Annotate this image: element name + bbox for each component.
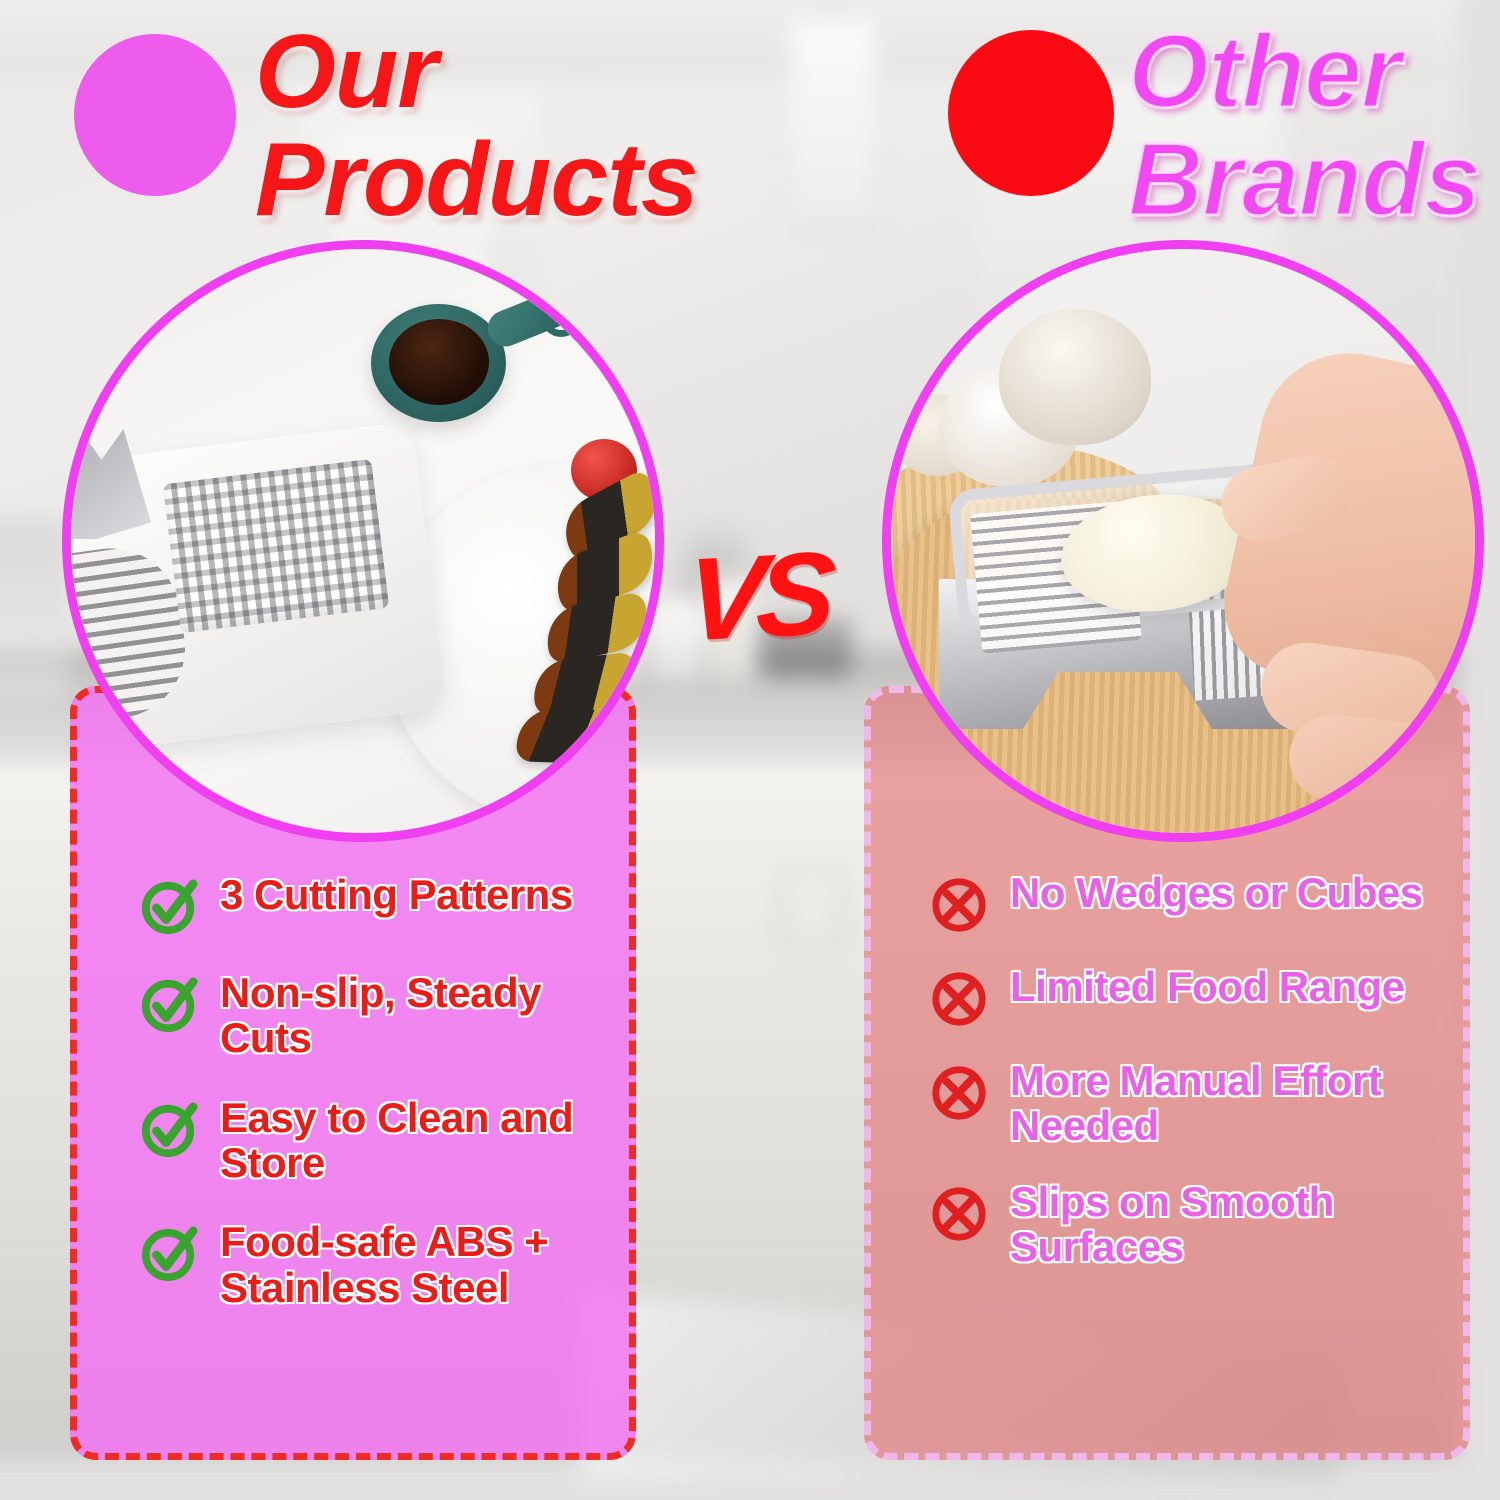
x-circle-icon <box>930 876 988 934</box>
list-item: No Wedges or Cubes <box>930 870 1430 934</box>
check-circle-icon <box>140 878 198 936</box>
left-header-dot <box>74 34 236 196</box>
feature-text: More Manual Effort Needed <box>1010 1058 1430 1149</box>
feature-text: Limited Food Range <box>1010 964 1405 1009</box>
list-item: Limited Food Range <box>930 964 1430 1028</box>
x-circle-icon <box>930 1185 988 1243</box>
feature-text: Food-safe ABS + Stainless Steel <box>220 1219 630 1310</box>
list-item: Non-slip, Steady Cuts <box>140 970 630 1061</box>
vs-label: VS <box>683 525 830 668</box>
other-brands-feature-list: No Wedges or Cubes Limited Food Range Mo… <box>930 870 1430 1269</box>
check-circle-icon <box>140 976 198 1034</box>
check-circle-icon <box>140 1225 198 1283</box>
feature-text: Easy to Clean and Store <box>220 1095 630 1186</box>
list-item: Easy to Clean and Store <box>140 1095 630 1186</box>
check-circle-icon <box>140 1101 198 1159</box>
list-item: Food-safe ABS + Stainless Steel <box>140 1219 630 1310</box>
x-circle-icon <box>930 1064 988 1122</box>
our-products-title: Our Products <box>255 18 698 234</box>
our-product-photo <box>62 240 664 842</box>
feature-text: 3 Cutting Patterns <box>220 872 573 917</box>
list-item: Slips on Smooth Surfaces <box>930 1179 1430 1270</box>
feature-text: Non-slip, Steady Cuts <box>220 970 630 1061</box>
feature-text: No Wedges or Cubes <box>1010 870 1423 915</box>
comparison-infographic: Our Products Other Brands <box>0 0 1500 1500</box>
our-products-feature-list: 3 Cutting Patterns Non-slip, Steady Cuts… <box>140 872 630 1310</box>
feature-text: Slips on Smooth Surfaces <box>1010 1179 1430 1270</box>
list-item: More Manual Effort Needed <box>930 1058 1430 1149</box>
versus-badge: VS <box>672 512 842 682</box>
pendant-light <box>790 20 876 220</box>
right-header-dot <box>948 30 1114 196</box>
other-brands-title: Other Brands <box>1128 18 1480 234</box>
other-brand-photo <box>882 240 1484 842</box>
x-circle-icon <box>930 970 988 1028</box>
list-item: 3 Cutting Patterns <box>140 872 630 936</box>
